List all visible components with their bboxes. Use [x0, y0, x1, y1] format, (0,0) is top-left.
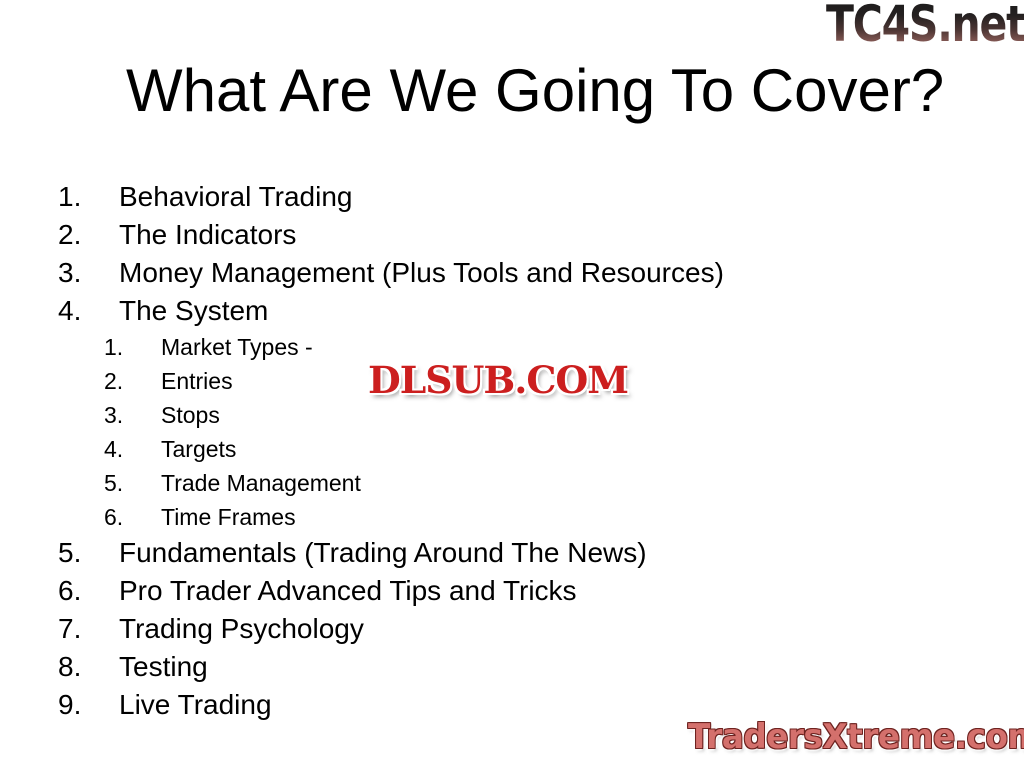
list-item-number: 4. [58, 292, 98, 330]
list-item-label: Time Frames [161, 500, 296, 534]
list-item: 2.The Indicators [0, 216, 1024, 254]
tc4s-brand-logo: TC4S.net [826, 0, 1024, 52]
list-item-label: Trading Psychology [119, 610, 364, 648]
list-item-number: 1. [104, 330, 142, 364]
list-item-label: Live Trading [119, 686, 272, 724]
tradersxtreme-footer-logo: TradersXtreme.com [688, 716, 1024, 758]
list-item-number: 6. [58, 572, 98, 610]
list-item: 6.Pro Trader Advanced Tips and Tricks [0, 572, 1024, 610]
list-item: 3.Stops [0, 398, 1024, 432]
list-item-number: 5. [104, 466, 142, 500]
list-item-label: Money Management (Plus Tools and Resourc… [119, 254, 724, 292]
list-item: 5.Fundamentals (Trading Around The News) [0, 534, 1024, 572]
outline-list: 1.Behavioral Trading2.The Indicators3.Mo… [0, 178, 1024, 724]
list-item-number: 5. [58, 534, 98, 572]
list-item-number: 7. [58, 610, 98, 648]
list-item-label: Entries [161, 364, 233, 398]
list-item: 4.Targets [0, 432, 1024, 466]
list-item: 8.Testing [0, 648, 1024, 686]
list-item-label: Market Types - [161, 330, 313, 364]
list-item: 7.Trading Psychology [0, 610, 1024, 648]
list-item: 6.Time Frames [0, 500, 1024, 534]
list-item-label: Targets [161, 432, 236, 466]
list-item-label: Testing [119, 648, 208, 686]
dlsub-watermark: DLSUB.COM [368, 358, 628, 402]
list-item-label: Behavioral Trading [119, 178, 352, 216]
list-item-label: The Indicators [119, 216, 296, 254]
page-title: What Are We Going To Cover? [126, 55, 944, 127]
list-item-number: 1. [58, 178, 98, 216]
list-item-number: 9. [58, 686, 98, 724]
list-item: 1.Behavioral Trading [0, 178, 1024, 216]
list-item: 4.The System [0, 292, 1024, 330]
list-item-number: 3. [104, 398, 142, 432]
list-item-label: The System [119, 292, 268, 330]
list-item-label: Pro Trader Advanced Tips and Tricks [119, 572, 577, 610]
list-item-label: Fundamentals (Trading Around The News) [119, 534, 647, 572]
list-item-number: 2. [104, 364, 142, 398]
list-item-number: 3. [58, 254, 98, 292]
presentation-slide: TC4S.net What Are We Going To Cover? 1.B… [0, 0, 1024, 768]
list-item-label: Stops [161, 398, 220, 432]
list-item-number: 2. [58, 216, 98, 254]
list-item-number: 8. [58, 648, 98, 686]
list-item: 3.Money Management (Plus Tools and Resou… [0, 254, 1024, 292]
list-item-number: 4. [104, 432, 142, 466]
list-item-label: Trade Management [161, 466, 361, 500]
list-item: 5.Trade Management [0, 466, 1024, 500]
list-item-number: 6. [104, 500, 142, 534]
